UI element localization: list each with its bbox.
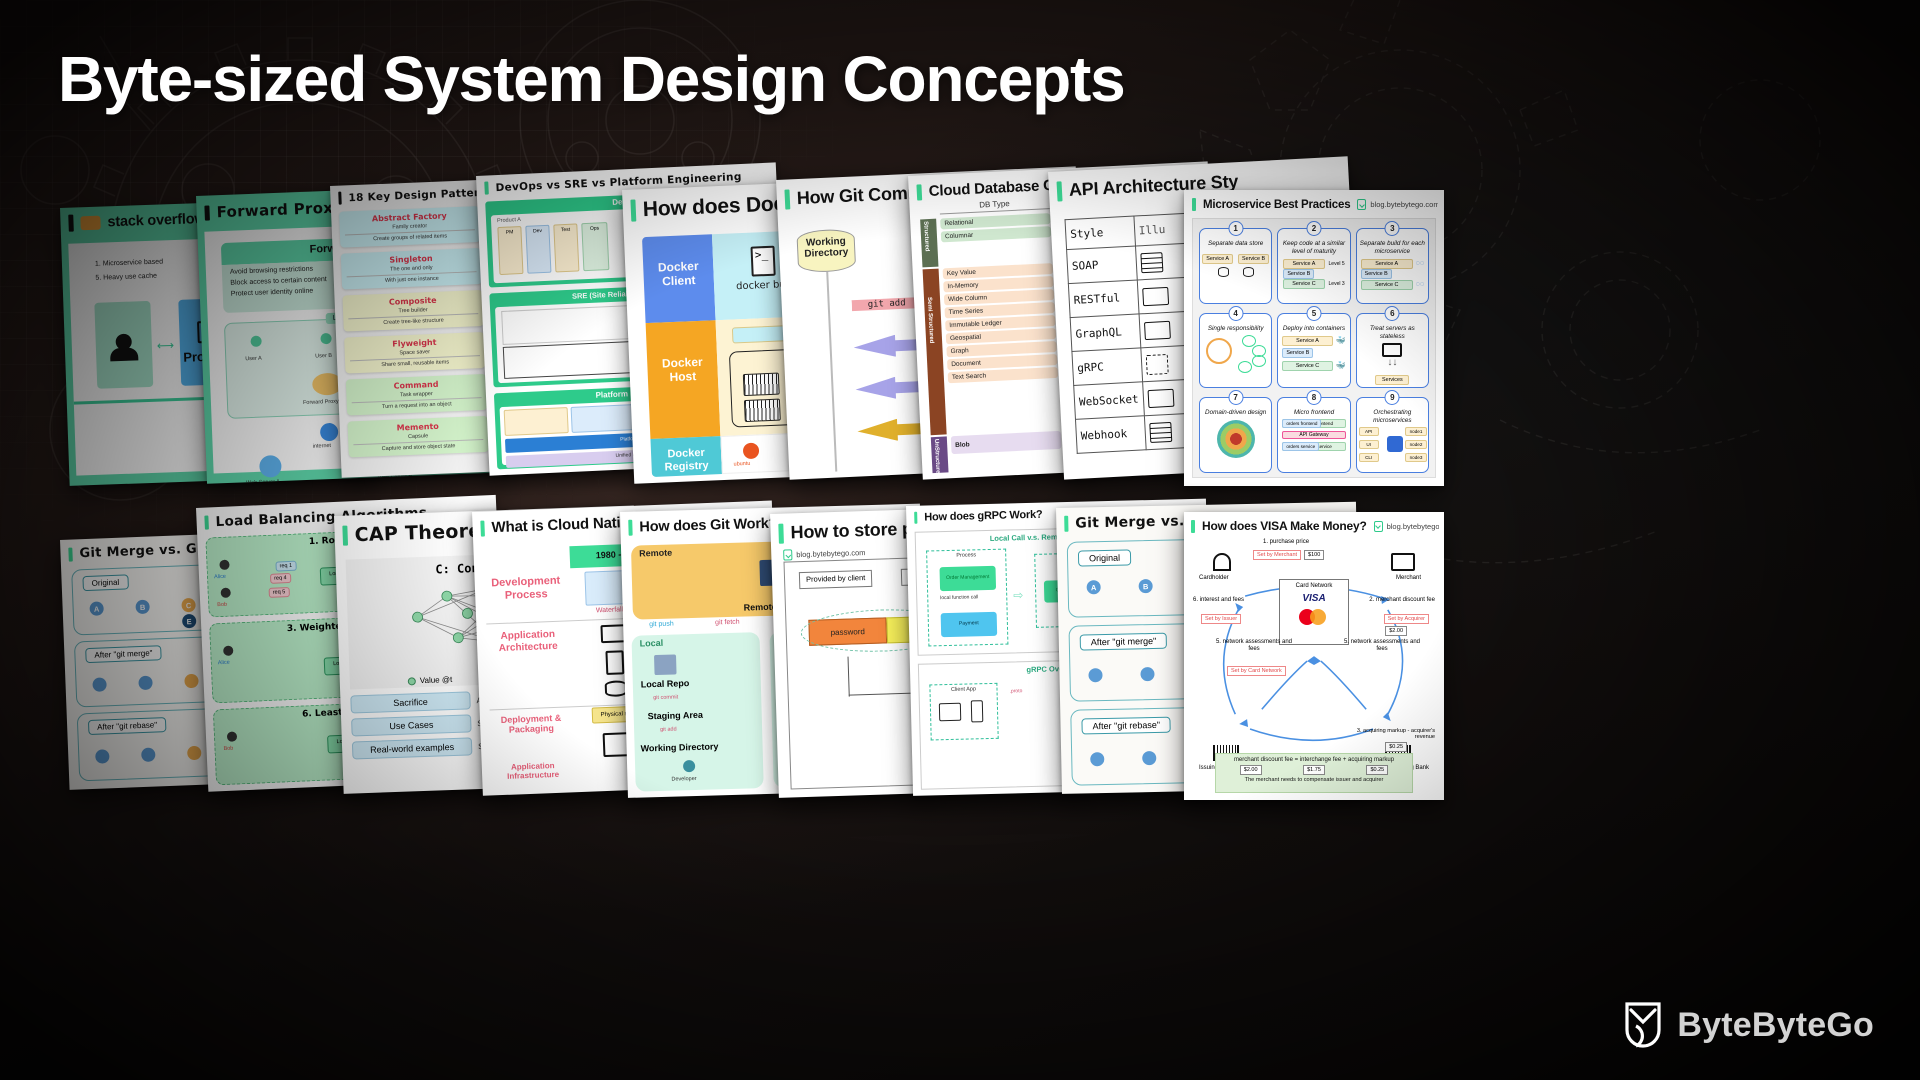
source-label-wrap: blog.bytebytego.com [1374, 521, 1439, 532]
accent-bar [484, 181, 489, 194]
level-label: Level 3 [1329, 281, 1345, 287]
arrow-right-icon: ⇨ [1013, 588, 1023, 602]
practice-caption: Keep code at a similar level of maturity [1278, 240, 1349, 256]
request-chip: req 4 [270, 573, 291, 584]
service-chip: Services [1375, 375, 1409, 385]
pattern-chip: Composite Tree builder Create tree-like … [342, 290, 483, 332]
practice-cell[interactable]: 5 Deploy into containers Service A🐳 Serv… [1277, 313, 1350, 389]
waterfall-label: Waterfall [596, 606, 624, 615]
developer-label: Developer [671, 776, 696, 783]
practice-cell[interactable]: 4 Single responsibility [1199, 313, 1272, 389]
row-graphql: GraphQL [1070, 314, 1140, 352]
internet-icon [320, 423, 339, 442]
merchant-icon [1391, 553, 1415, 571]
level-label: Level 5 [1329, 261, 1345, 267]
user-b-label: User B [315, 353, 332, 360]
pattern-chip: Singleton The one and only With just one… [341, 248, 482, 290]
section-label: After "git rebase" [88, 717, 166, 735]
practice-number: 5 [1306, 306, 1321, 321]
monitor-icon [1144, 320, 1171, 339]
formula-amount: $0.25 [1366, 765, 1388, 775]
arrow-down-icon: ↓↓ [1357, 357, 1428, 368]
accent-bar [204, 515, 209, 529]
role-pm: PM [497, 226, 523, 275]
client-alice-label: Alice [214, 574, 226, 581]
zone-label: Local [631, 632, 759, 649]
stackoverflow-icon [80, 215, 100, 230]
group-unstructured: UnStructured [931, 436, 949, 473]
practice-number: 1 [1228, 221, 1243, 236]
plat-cell [504, 407, 569, 436]
client-app-label: Client App [930, 684, 996, 694]
card-title: How does Git Work? [639, 516, 777, 536]
accent-bar [1192, 198, 1196, 211]
section-label: After "git merge" [1080, 633, 1168, 651]
row-label-sacrifice: Sacrifice [350, 691, 471, 713]
docker-host-panel: Docker Host [646, 320, 721, 439]
commit-node [187, 746, 202, 761]
card-title: How does VISA Make Money? [1202, 519, 1367, 533]
practice-cell[interactable]: 9 Orchestrating microservices API UI CLI… [1356, 397, 1429, 473]
row-label-deployment-packaging: Deployment & Packaging [490, 712, 573, 736]
row-label-development-process: Development Process [485, 574, 568, 602]
db-name: Document [951, 360, 981, 368]
source-label: blog.bytebytego.com [1387, 522, 1439, 531]
source-label: blog.bytebytego.com [1370, 200, 1438, 209]
laptop-icon [939, 703, 961, 722]
row-soap: SOAP [1067, 246, 1137, 284]
practice-caption: Micro frontend [1278, 409, 1349, 417]
accent-bar [784, 189, 790, 209]
docker-registry-label: Docker Registry [650, 436, 721, 475]
card-title: Microservice Best Practices [1203, 199, 1350, 211]
client-icon [223, 646, 233, 656]
step-6-setter: Set by Issuer [1201, 614, 1241, 624]
practice-cell[interactable]: 7 Domain-driven design [1199, 397, 1272, 473]
practice-number: 8 [1306, 390, 1321, 405]
group-label: UnStructured [931, 437, 943, 480]
practice-caption: Single responsibility [1200, 325, 1271, 333]
service-chip: API [1359, 427, 1379, 436]
client-bob-label: Bob [217, 602, 227, 609]
db-name: Wide Column [948, 294, 987, 303]
web-server-a-icon [259, 455, 282, 478]
db-row: Blob [951, 431, 1062, 454]
ddd-rings-icon [1217, 420, 1255, 458]
tool-icon [1252, 355, 1266, 367]
monitor-icon [1142, 286, 1169, 305]
formula-note: The merchant needs to compensate issuer … [1219, 777, 1409, 783]
accent-bar [1064, 516, 1068, 532]
staging-area-label: Staging Area [648, 710, 703, 722]
group-label: Structured [920, 219, 932, 254]
row-label-application-infrastructure: Application Infrastructure [492, 760, 575, 782]
arrow-bidirectional: ⟷ [157, 338, 175, 353]
card-network-box: Card Network VISA [1279, 579, 1349, 645]
commit-node [184, 674, 199, 689]
build-icon: ◌◌ [1416, 260, 1424, 267]
card-microservice-best-practices[interactable]: Microservice Best Practices blog.bytebyt… [1184, 190, 1444, 486]
role-label: PM [498, 227, 520, 236]
practice-number: 6 [1385, 306, 1400, 321]
pattern-chip: Memento Capsule Capture and store object… [347, 416, 488, 458]
server-icon [1140, 252, 1163, 273]
commit-node [92, 677, 107, 692]
role-test: Test [553, 223, 579, 272]
tool-icon [1238, 361, 1252, 373]
client-alice-label: Alice [218, 660, 230, 667]
server-icon [1145, 354, 1168, 375]
docker-client-panel: Docker Client [642, 234, 716, 323]
server-icon [605, 650, 624, 675]
step-5-left-label: 5. network assessments and fees [1215, 639, 1293, 653]
db-name: Blob [955, 441, 970, 449]
step-5-setter: Set by Card Network [1227, 666, 1286, 676]
process-box: Process Order Management local function … [926, 549, 1008, 647]
db-name: Geospatial [950, 334, 981, 343]
local-repo-icon [654, 654, 677, 675]
brand-lockup: ByteByteGo [1623, 1000, 1874, 1050]
request-chip: req 1 [275, 561, 296, 572]
section-label: After "git merge" [85, 645, 162, 663]
database-icon [1218, 267, 1229, 277]
docker-icon: 🐳 [1336, 336, 1346, 345]
tool-icon [1242, 335, 1256, 347]
row-webhook: Webhook [1075, 416, 1145, 454]
commit-node [1090, 752, 1104, 766]
row-label-real-world: Real-world examples [352, 737, 473, 759]
step-2-amount: $2.00 [1385, 626, 1407, 636]
git-commit-label: git commit [653, 694, 678, 701]
row-label-application-architecture: Application Architecture [487, 628, 570, 654]
lane-label: Product A [497, 217, 521, 224]
row-label-use-cases: Use Cases [351, 714, 472, 736]
service-chip: CLI [1359, 453, 1379, 462]
service-chip: Service A [1361, 259, 1413, 269]
request-chip: req 5 [269, 587, 290, 598]
service-chip: orders frontend [1282, 419, 1321, 428]
client-icon [227, 731, 237, 741]
service-chip: Service C [1361, 280, 1413, 290]
service-chip: Service B [1238, 254, 1269, 264]
git-fetch-label: git fetch [715, 619, 740, 628]
connector [848, 657, 851, 697]
db-name: Immutable Ledger [949, 320, 1002, 330]
practice-caption: Separate build for each microservice [1357, 240, 1428, 256]
practice-number: 2 [1306, 221, 1321, 236]
working-directory-label: Working Directory [640, 741, 718, 753]
build-icon: ◌◌ [1416, 281, 1424, 288]
brand-name: ByteByteGo [1677, 1006, 1874, 1045]
mastercard-logo [1299, 609, 1329, 625]
card-how-does-visa-make-money[interactable]: How does VISA Make Money? blog.bytebyteg… [1184, 512, 1444, 800]
commit-node: B [135, 600, 150, 615]
db-name: Key Value [947, 269, 976, 277]
service-chip: node2 [1405, 440, 1427, 449]
role-dev: Dev [525, 225, 551, 274]
payment-box: Payment [941, 612, 998, 637]
note-2: 5. Heavy use cache [95, 273, 157, 284]
role-label: Dev [526, 226, 548, 235]
working-directory-store: Working Directory [796, 228, 856, 273]
proxy-label: Forward Proxy [303, 399, 339, 407]
accent-bar [1056, 181, 1062, 201]
docker-client-label: Docker Client [642, 234, 714, 290]
db-name: Text Search [952, 372, 987, 381]
multitool-icon [1206, 338, 1232, 364]
practice-cell[interactable]: 8 Micro frontend payments frontend order… [1277, 397, 1350, 473]
service-chip: Service B [1283, 269, 1314, 279]
accent-bar [778, 523, 784, 543]
source-label: blog.bytebytego.com [796, 548, 865, 559]
bytebytego-icon [1357, 199, 1366, 210]
user-icon-body [110, 347, 138, 361]
col-style: Style [1065, 216, 1135, 250]
local-call-label: local function call [940, 594, 978, 601]
accent-bar [1191, 520, 1195, 533]
row-restful: RESTful [1068, 280, 1138, 318]
role-ops: Ops [581, 222, 609, 271]
annotation-client: Provided by client [799, 570, 873, 589]
commit-node: C [181, 598, 196, 613]
db-name: In-Memory [947, 282, 978, 291]
timeline [826, 272, 837, 472]
legend-dot [408, 677, 416, 685]
service-chip: Service A [1202, 254, 1233, 264]
source-label-wrap: blog.bytebytego.com [1357, 199, 1438, 210]
commit-node [141, 748, 156, 763]
web-server-a-label: Web Server A [246, 479, 280, 484]
formula-amount: $2.00 [1240, 765, 1262, 775]
accent-bar [628, 520, 632, 536]
monitor-icon [1147, 388, 1174, 407]
db-name: Relational [944, 219, 973, 227]
practice-number: 9 [1385, 390, 1400, 405]
phone-icon [971, 700, 984, 722]
role-label: Ops [582, 223, 606, 232]
accent-bar [338, 192, 342, 205]
practice-cell[interactable]: 3 Separate build for each microservice S… [1356, 228, 1429, 304]
practice-caption: Treat servers as stateless [1357, 325, 1428, 341]
practice-caption: Domain-driven design [1200, 409, 1271, 417]
commit-node [1088, 668, 1102, 682]
section-label: Original [82, 574, 128, 591]
practice-cell[interactable]: 1 Separate data store Service A Service … [1199, 228, 1272, 304]
practice-caption: Separate data store [1200, 240, 1271, 248]
service-chip: Service B [1361, 269, 1392, 279]
db-name: Columnar [945, 232, 973, 240]
step-1-setter: Set by Merchant [1253, 550, 1301, 560]
database-icon [1243, 267, 1254, 277]
visa-logo: VISA [1280, 589, 1348, 604]
row-grpc: gRPC [1072, 348, 1142, 386]
card-title: How does gRPC Work? [924, 509, 1042, 524]
pattern-chip: Command Task wrapper Turn a request into… [346, 374, 487, 416]
commit-node [95, 749, 110, 764]
plat-cell [571, 404, 636, 433]
service-chip: node3 [1405, 453, 1427, 462]
pattern-chip: Flyweight Space saver Share small, reusa… [344, 332, 485, 374]
practice-number: 4 [1228, 306, 1243, 321]
commit-node [1142, 751, 1156, 765]
process-label: Process [927, 550, 1005, 560]
service-chip: orders service [1282, 442, 1319, 451]
commit-node [138, 676, 153, 691]
commit-node: B [1139, 579, 1153, 593]
section-label: After "git rebase" [1081, 717, 1171, 735]
cardholder-label: Cardholder [1199, 575, 1229, 581]
group-structured: Structured [920, 219, 938, 268]
ubuntu-label: ubuntu [733, 461, 750, 468]
docker-host-label: Docker Host [646, 320, 719, 386]
docker-registry-panel: Docker Registry [650, 436, 722, 477]
commit-node: A [1087, 580, 1101, 594]
formula-text: merchant discount fee = interchange fee … [1219, 757, 1409, 763]
practice-caption: Orchestrating microservices [1357, 409, 1428, 425]
practice-cell[interactable]: 2 Keep code at a similar level of maturi… [1277, 228, 1350, 304]
service-chip: Service A [1283, 259, 1324, 269]
service-chip: Service A [1282, 336, 1332, 346]
terminal-icon: >_ [750, 246, 775, 277]
step-3-amount: $0.25 [1385, 742, 1407, 752]
accent-bar [480, 520, 485, 536]
service-chip: Service B [1282, 348, 1313, 358]
internet-label: internet [313, 443, 332, 450]
practice-caption: Deploy into containers [1278, 325, 1349, 333]
step-6-label: 6. interest and fees [1193, 597, 1244, 603]
client-bob-label: Bob [223, 746, 233, 753]
db-name: Time Series [949, 307, 984, 316]
container-icon [744, 399, 781, 422]
accent-bar [916, 184, 922, 200]
commit-node: E [182, 614, 197, 629]
group-label: Semi Structured [923, 269, 938, 372]
step-5-right-label: 5. network assessments and fees [1343, 639, 1421, 653]
legend-label: Value @t [420, 675, 453, 685]
service-chip: Service C [1282, 361, 1332, 371]
commit-node [1140, 667, 1154, 681]
visa-flow-diagram: Cardholder Merchant 1. purchase price Se… [1191, 537, 1437, 793]
service-chip: UI [1359, 440, 1379, 449]
accent-bar [914, 512, 917, 524]
row-websocket: WebSocket [1074, 382, 1144, 420]
working-directory-label: Working Directory [797, 230, 854, 261]
container-icon [743, 373, 780, 396]
client-app-box: Client App [929, 683, 998, 741]
api-gateway-chip: API Gateway [1282, 431, 1345, 439]
poster-canvas: φ10 [0, 0, 1920, 1080]
formula-box: merchant discount fee = interchange fee … [1215, 753, 1413, 793]
docker-icon: 🐳 [1336, 361, 1346, 370]
card-network-label: Card Network [1280, 580, 1348, 589]
kubernetes-icon [1387, 436, 1403, 452]
api-note: .proto [1009, 688, 1022, 694]
step-2-label: 2. merchant discount fee [1369, 597, 1435, 603]
git-add-label: git add [660, 727, 677, 734]
local-repo-label: Local Repo [641, 678, 690, 689]
cardholder-icon [1213, 553, 1231, 571]
client-bob-icon [221, 588, 231, 598]
bytebytego-icon [783, 549, 792, 560]
monitor-icon [1382, 343, 1402, 357]
server-icon [1149, 421, 1172, 442]
step-1-label: 1. purchase price [1263, 539, 1309, 545]
practice-number: 3 [1385, 221, 1400, 236]
developer-icon [683, 760, 695, 772]
client-alice-icon [219, 560, 229, 570]
db-name: Graph [950, 347, 968, 355]
commit-node: A [89, 601, 104, 616]
practice-number: 7 [1228, 390, 1243, 405]
order-management-box: Order Management [940, 566, 997, 591]
accent-bar [342, 526, 348, 546]
accent-bar [68, 215, 74, 232]
git-push-label: git push [649, 621, 674, 630]
zone-local: Local Local Repo git commit Staging Area… [631, 632, 763, 792]
pattern-chip: Abstract Factory Family creator Create g… [339, 206, 480, 248]
accent-bar [630, 199, 636, 221]
role-label: Test [554, 224, 576, 233]
practices-grid: 1 Separate data store Service A Service … [1192, 218, 1436, 478]
practice-cell[interactable]: 6 Treat servers as stateless ↓↓ Services [1356, 313, 1429, 389]
service-chip: node1 [1405, 427, 1427, 436]
page-title: Byte-sized System Design Concepts [58, 42, 1125, 116]
user-a-label: User A [245, 356, 262, 363]
section-label: Original [1078, 549, 1131, 566]
note-1: 1. Microservice based [95, 258, 163, 269]
bytebytego-icon [1374, 521, 1383, 532]
merchant-label: Merchant [1396, 575, 1421, 581]
step-1-amount: $100 [1304, 550, 1324, 560]
accent-bar [204, 205, 210, 220]
bytebytego-logo-icon [1623, 1000, 1663, 1050]
service-chip: Service C [1283, 279, 1324, 289]
accent-bar [68, 547, 73, 561]
formula-amount: $1.75 [1303, 765, 1325, 775]
